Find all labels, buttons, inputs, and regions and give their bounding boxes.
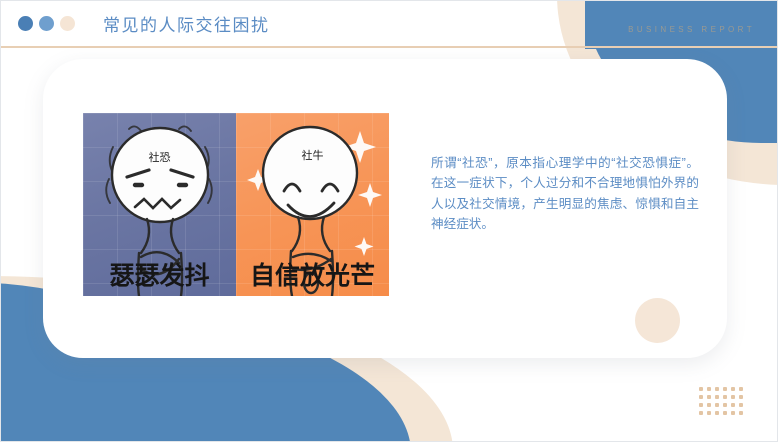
grid-dot [723, 403, 727, 407]
illustration-left-panel: 社恐 瑟瑟发抖 [83, 113, 236, 296]
grid-dot [739, 395, 743, 399]
slide-canvas: 常见的人际交往困扰 BUSINESS REPORT [0, 0, 778, 442]
grid-dot [707, 411, 711, 415]
grid-dot [707, 403, 711, 407]
grid-dot [723, 387, 727, 391]
body-paragraph: 所谓“社恐”，原本指心理学中的“社交恐惧症”。在这一症状下，个人过分和不合理地惧… [431, 153, 699, 235]
grid-dot [723, 411, 727, 415]
grid-dot [715, 387, 719, 391]
brand-watermark: BUSINESS REPORT [628, 25, 755, 34]
grid-dot [723, 395, 727, 399]
grid-dot [707, 395, 711, 399]
grid-dot [739, 403, 743, 407]
circle-icon-mid-blue [39, 16, 54, 31]
illustration-right-badge: 社牛 [236, 147, 389, 163]
dot-grid-decoration [699, 387, 743, 415]
grid-dot [739, 411, 743, 415]
grid-dot [699, 411, 703, 415]
grid-dot [731, 411, 735, 415]
peach-circle-decoration [635, 298, 680, 343]
grid-dot [715, 411, 719, 415]
header-dot-group [18, 16, 75, 31]
illustration-right-panel: 社牛 自信放光芒 [236, 113, 389, 296]
header-divider-rule [1, 46, 778, 48]
circle-icon-cream [60, 16, 75, 31]
illustration-left-caption: 瑟瑟发抖 [83, 256, 236, 292]
grid-dot [699, 387, 703, 391]
grid-dot [731, 403, 735, 407]
grid-dot [715, 403, 719, 407]
comparison-illustration: 社恐 瑟瑟发抖 [83, 113, 389, 296]
content-card: 社恐 瑟瑟发抖 [43, 59, 727, 358]
grid-dot [715, 395, 719, 399]
grid-dot [707, 387, 711, 391]
grid-dot [731, 395, 735, 399]
illustration-right-caption: 自信放光芒 [236, 256, 389, 292]
grid-dot [731, 387, 735, 391]
illustration-left-badge: 社恐 [83, 149, 236, 165]
grid-dot [699, 403, 703, 407]
grid-dot [699, 395, 703, 399]
page-title: 常见的人际交往困扰 [103, 11, 270, 36]
grid-dot [739, 387, 743, 391]
circle-icon-dark-blue [18, 16, 33, 31]
slide-header: 常见的人际交往困扰 [1, 1, 778, 46]
